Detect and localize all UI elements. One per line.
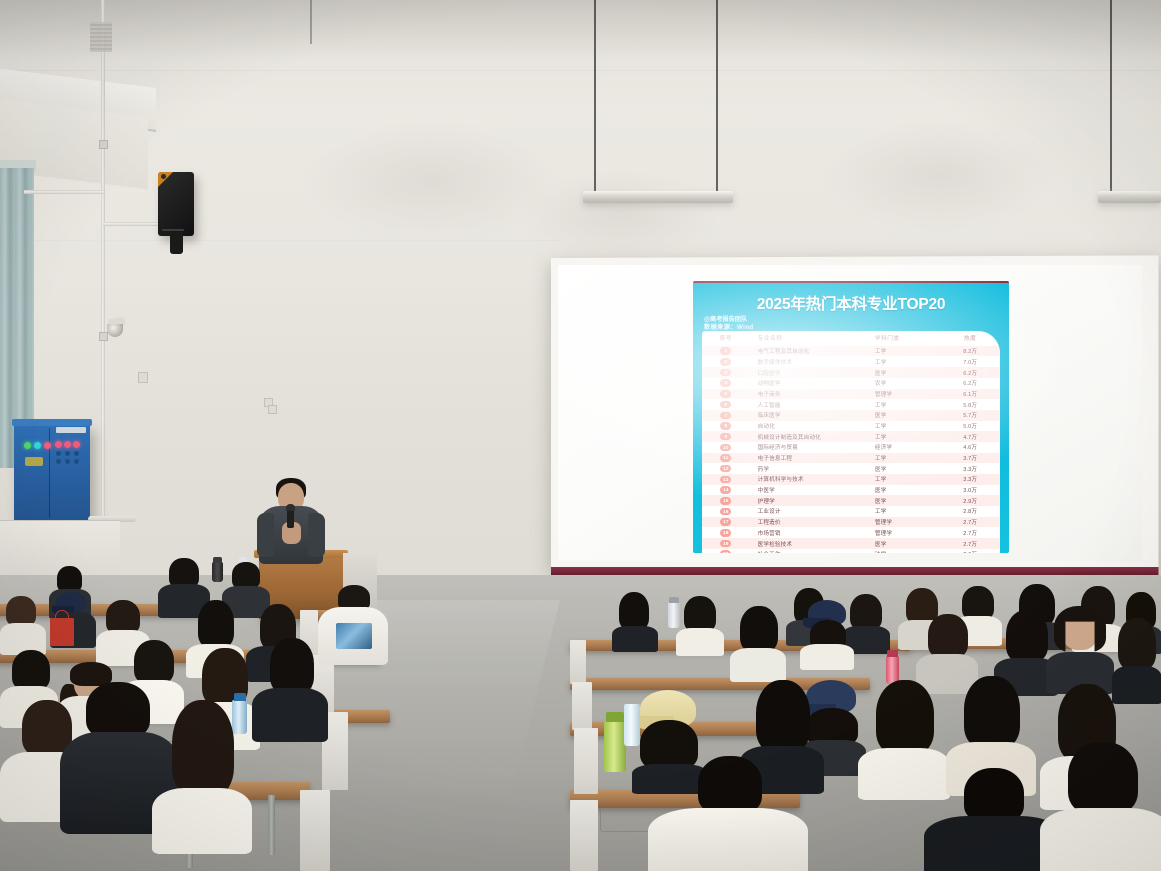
cell-heat: 3.3万 <box>940 474 1000 485</box>
cell-rank: 14 <box>702 485 750 496</box>
microphone-head <box>286 504 295 511</box>
light-suspension-rod <box>310 0 312 44</box>
cell-rank: 8 <box>702 421 750 432</box>
hair <box>1006 610 1048 662</box>
hair <box>232 562 260 589</box>
cell-major: 自动化 <box>750 421 875 432</box>
cell-heat: 2.6万 <box>940 549 1000 553</box>
cell-major: 社会工作 <box>750 549 875 553</box>
light-suspension-rod <box>716 0 718 193</box>
cell-rank: 19 <box>702 538 750 549</box>
cell-rank: 1 <box>702 346 750 357</box>
rank-badge: 19 <box>720 540 731 548</box>
cell-rank: 4 <box>702 378 750 389</box>
table-row: 4动物医学农学6.2万 <box>702 378 1000 389</box>
cell-rank: 11 <box>702 453 750 464</box>
student <box>152 700 252 850</box>
cell-major: 中医学 <box>750 485 875 496</box>
indicator-lamp-red <box>55 441 62 448</box>
hair <box>106 600 140 634</box>
hair <box>1068 742 1138 814</box>
cell-major: 临床医学 <box>750 410 875 421</box>
ceiling-light-tube <box>583 191 733 203</box>
cell-heat: 3.3万 <box>940 463 1000 474</box>
cell-heat: 6.2万 <box>940 378 1000 389</box>
cell-category: 管理学 <box>875 527 941 538</box>
bottle-cap <box>887 650 898 657</box>
student <box>1046 606 1114 690</box>
student <box>730 606 786 680</box>
cell-major: 机械设计制造及其自动化 <box>750 431 875 442</box>
light-suspension-rod <box>1110 0 1112 193</box>
cell-heat: 3.7万 <box>940 453 1000 464</box>
table-row: 17工程造价管理学2.7万 <box>702 517 1000 528</box>
cell-category: 医学 <box>875 495 941 506</box>
hair <box>1118 618 1156 670</box>
hair <box>964 676 1020 748</box>
student <box>318 585 388 665</box>
cell-rank: 9 <box>702 431 750 442</box>
cell-major: 工业设计 <box>750 506 875 517</box>
cell-heat: 7.0万 <box>940 356 1000 367</box>
rank-badge: 8 <box>720 422 731 430</box>
cell-rank: 12 <box>702 463 750 474</box>
cell-rank: 6 <box>702 399 750 410</box>
cell-rank: 10 <box>702 442 750 453</box>
hair <box>684 596 716 632</box>
table-row: 20社会工作法学2.6万 <box>702 549 1000 553</box>
table-row: 11电子信息工程工学3.7万 <box>702 453 1000 464</box>
bottle-cap <box>669 597 679 603</box>
torso <box>612 626 658 652</box>
student <box>648 756 808 871</box>
indicator-lamp-red <box>44 442 51 449</box>
table-row: 16工业设计工学2.8万 <box>702 506 1000 517</box>
conduit-junction-box <box>99 140 108 149</box>
cell-major: 医学检验技术 <box>750 538 875 549</box>
table-row: 15护理学医学2.9万 <box>702 495 1000 506</box>
cabinet-top-cap <box>12 419 92 426</box>
cell-major: 电子信息工程 <box>750 453 875 464</box>
speaker-logo-dot <box>161 174 166 179</box>
cell-category: 工学 <box>875 431 941 442</box>
cell-major: 数字媒体技术 <box>750 356 875 367</box>
slide-card: 2025年热门本科专业TOP20 @高考报告团队 数据来源：Wind 序号 专业… <box>693 281 1009 553</box>
student <box>612 592 658 648</box>
cell-category: 工学 <box>875 399 941 410</box>
cell-heat: 2.7万 <box>940 527 1000 538</box>
speaker-mount-bracket <box>170 232 183 254</box>
cell-rank: 5 <box>702 389 750 400</box>
cell-category: 工学 <box>875 474 941 485</box>
cell-heat: 6.2万 <box>940 367 1000 378</box>
tshirt-graphic <box>336 623 372 649</box>
rank-badge: 16 <box>720 508 731 516</box>
student-with-cap <box>800 600 854 666</box>
table-row: 18市场营销管理学2.7万 <box>702 527 1000 538</box>
hair <box>198 600 234 648</box>
column-header-major: 专业名称 <box>750 331 875 346</box>
thermos-bottle <box>668 602 680 628</box>
table-row: 8自动化工学5.0万 <box>702 421 1000 432</box>
lecture-hall-photo: 2025年热门本科专业TOP20 @高考报告团队 数据来源：Wind 序号 专业… <box>0 0 1161 871</box>
wall-seam <box>0 70 1161 71</box>
cell-heat: 5.7万 <box>940 410 1000 421</box>
cell-category: 工学 <box>875 421 941 432</box>
desk-side-panel <box>574 728 598 794</box>
cell-rank: 15 <box>702 495 750 506</box>
table-header: 序号 专业名称 学科门类 热度 <box>702 331 1000 346</box>
table-body: 1电气工程及其自动化工学8.2万2数字媒体技术工学7.0万3口腔医学医学6.2万… <box>702 346 1000 553</box>
cell-category: 管理学 <box>875 389 941 400</box>
cell-rank: 7 <box>702 410 750 421</box>
hair <box>964 768 1024 822</box>
wall-seam <box>0 240 560 241</box>
rank-badge: 4 <box>720 379 731 387</box>
cell-heat: 8.2万 <box>940 346 1000 357</box>
desk-side-panel <box>300 790 330 871</box>
wall-smudge <box>820 120 1060 230</box>
cell-rank: 2 <box>702 356 750 367</box>
slide-subtitle-credit: @高考报告团队 <box>704 316 1009 324</box>
cell-major: 护理学 <box>750 495 875 506</box>
wall-outlet-plate <box>268 405 277 414</box>
cell-category: 农学 <box>875 378 941 389</box>
rank-badge: 1 <box>720 347 731 355</box>
cell-major: 国际经济与贸易 <box>750 442 875 453</box>
torso <box>648 808 808 871</box>
cell-category: 经济学 <box>875 442 941 453</box>
table-row: 6人工智能工学5.8万 <box>702 399 1000 410</box>
column-header-category: 学科门类 <box>875 331 941 346</box>
torso <box>676 628 724 656</box>
table-row: 2数字媒体技术工学7.0万 <box>702 356 1000 367</box>
wall-outlet-plate <box>138 372 148 383</box>
cell-rank: 3 <box>702 367 750 378</box>
cell-category: 医学 <box>875 463 941 474</box>
wall-speaker-icon <box>158 172 194 236</box>
table-row: 9机械设计制造及其自动化工学4.7万 <box>702 431 1000 442</box>
wall-conduit-horizontal <box>103 222 165 226</box>
cell-category: 工学 <box>875 346 941 357</box>
presenter-left-arm <box>257 513 274 557</box>
cell-rank: 13 <box>702 474 750 485</box>
ceiling-light-tube <box>1098 191 1161 203</box>
wall-top-shadow <box>0 0 1161 60</box>
rank-badge: 2 <box>720 358 731 366</box>
cell-category: 工学 <box>875 506 941 517</box>
rank-badge: 6 <box>720 401 731 409</box>
table-row: 3口腔医学医学6.2万 <box>702 367 1000 378</box>
torso <box>152 788 252 854</box>
cell-category: 医学 <box>875 538 941 549</box>
indicator-lamp-red <box>64 441 71 448</box>
student <box>676 596 724 652</box>
bottle-cap <box>606 712 624 722</box>
cell-major: 电气工程及其自动化 <box>750 346 875 357</box>
rank-badge: 13 <box>720 476 731 484</box>
speaker-grill <box>162 229 184 231</box>
cabinet-button <box>65 459 70 464</box>
hair <box>172 700 234 796</box>
ranking-table-container: 序号 专业名称 学科门类 热度 1电气工程及其自动化工学8.2万2数字媒体技术工… <box>702 331 1000 553</box>
cell-heat: 3.0万 <box>940 485 1000 496</box>
slide-title: 2025年热门本科专业TOP20 <box>699 292 1003 314</box>
water-bottle <box>624 704 640 746</box>
rank-badge: 12 <box>720 465 731 473</box>
cabinet-button <box>74 451 79 456</box>
hair <box>270 638 314 694</box>
cell-category: 工学 <box>875 453 941 464</box>
table-row: 5电子商务管理学6.1万 <box>702 389 1000 400</box>
cell-major: 药学 <box>750 463 875 474</box>
cabinet-button <box>56 451 61 456</box>
column-header-rank: 序号 <box>702 331 750 346</box>
hair <box>134 640 174 684</box>
light-suspension-rod <box>594 0 596 193</box>
cell-major: 计算机科学与技术 <box>750 474 875 485</box>
student <box>1040 742 1161 871</box>
cell-major: 工程造价 <box>750 517 875 528</box>
table-row: 14中医学医学3.0万 <box>702 485 1000 496</box>
cell-rank: 20 <box>702 549 750 553</box>
student <box>252 638 328 738</box>
hair <box>6 596 36 626</box>
conduit-junction-box <box>99 332 108 341</box>
cell-major: 动物医学 <box>750 378 875 389</box>
podium-vent <box>90 22 112 52</box>
table-row: 1电气工程及其自动化工学8.2万 <box>702 346 1000 357</box>
desk-side-panel <box>570 800 598 871</box>
cell-category: 医学 <box>875 410 941 421</box>
hair <box>12 650 50 690</box>
hair <box>698 756 762 814</box>
rank-badge: 3 <box>720 369 731 377</box>
cell-heat: 4.7万 <box>940 431 1000 442</box>
cabinet-label-plate <box>56 427 86 433</box>
cabinet-button <box>56 459 61 464</box>
cell-heat: 2.9万 <box>940 495 1000 506</box>
presenter-right-arm <box>308 513 325 557</box>
cabinet-button <box>65 451 70 456</box>
table-row: 12药学医学3.3万 <box>702 463 1000 474</box>
electrical-cabinet <box>14 424 90 522</box>
wall-conduit-horizontal <box>24 190 104 194</box>
green-tea-bottle <box>604 720 626 772</box>
rank-badge: 7 <box>720 412 731 420</box>
cell-heat: 2.7万 <box>940 517 1000 528</box>
hair <box>86 682 150 738</box>
torso <box>1040 808 1161 871</box>
rank-badge: 18 <box>720 529 731 537</box>
cabinet-button <box>74 459 79 464</box>
column-header-heat: 热度 <box>940 331 1000 346</box>
table-row: 10国际经济与贸易经济学4.6万 <box>702 442 1000 453</box>
cabinet-yellow-plaque <box>25 457 43 466</box>
hair <box>756 680 810 752</box>
cell-major: 口腔医学 <box>750 367 875 378</box>
table-row: 19医学检验技术医学2.7万 <box>702 538 1000 549</box>
cell-major: 市场营销 <box>750 527 875 538</box>
rank-badge: 11 <box>720 454 731 462</box>
rank-badge: 5 <box>720 390 731 398</box>
cell-category: 管理学 <box>875 517 941 528</box>
student <box>0 596 48 652</box>
cell-heat: 5.0万 <box>940 421 1000 432</box>
cell-heat: 2.8万 <box>940 506 1000 517</box>
desk-side-panel <box>570 640 586 684</box>
desk-side-panel <box>572 682 592 730</box>
cell-major: 人工智能 <box>750 399 875 410</box>
rank-badge: 15 <box>720 497 731 505</box>
desk-leg <box>268 795 275 855</box>
bottle-cap <box>213 557 222 563</box>
rank-badge: 17 <box>720 518 731 526</box>
cell-heat: 5.8万 <box>940 399 1000 410</box>
cell-category: 工学 <box>875 356 941 367</box>
rank-badge: 9 <box>720 433 731 441</box>
table-row: 13计算机科学与技术工学3.3万 <box>702 474 1000 485</box>
presenter <box>256 478 346 568</box>
cell-heat: 6.1万 <box>940 389 1000 400</box>
cell-rank: 18 <box>702 527 750 538</box>
rank-badge: 10 <box>720 444 731 452</box>
cell-heat: 2.7万 <box>940 538 1000 549</box>
cell-major: 电子商务 <box>750 389 875 400</box>
indicator-lamp-green <box>24 442 31 449</box>
hair <box>619 592 649 630</box>
hair <box>928 614 968 658</box>
cell-rank: 17 <box>702 517 750 528</box>
torso <box>730 648 786 682</box>
bag-handle <box>55 610 69 620</box>
torso <box>252 688 328 742</box>
indicator-lamp-cyan <box>34 442 41 449</box>
table-row: 7临床医学医学5.7万 <box>702 410 1000 421</box>
hair <box>740 606 778 652</box>
table-header-row: 序号 专业名称 学科门类 热度 <box>702 331 1000 346</box>
projection-screen[interactable]: 2025年热门本科专业TOP20 @高考报告团队 数据来源：Wind 序号 专业… <box>551 258 1149 570</box>
cell-rank: 16 <box>702 506 750 517</box>
rank-badge: 20 <box>720 550 731 553</box>
hair <box>876 680 934 754</box>
cell-category: 法学 <box>875 549 941 553</box>
wall-conduit-vertical <box>101 0 105 575</box>
screen-surface: 2025年热门本科专业TOP20 @高考报告团队 数据来源：Wind 序号 专业… <box>558 265 1142 561</box>
shopping-bag <box>50 618 74 646</box>
hair <box>850 594 882 630</box>
cell-category: 医学 <box>875 367 941 378</box>
torso <box>800 644 854 670</box>
ranking-table: 序号 专业名称 学科门类 热度 1电气工程及其自动化工学8.2万2数字媒体技术工… <box>702 331 1000 553</box>
cell-heat: 4.6万 <box>940 442 1000 453</box>
wall-smudge <box>300 120 560 240</box>
indicator-lamp-red <box>73 441 80 448</box>
rank-badge: 14 <box>720 486 731 494</box>
cell-category: 医学 <box>875 485 941 496</box>
